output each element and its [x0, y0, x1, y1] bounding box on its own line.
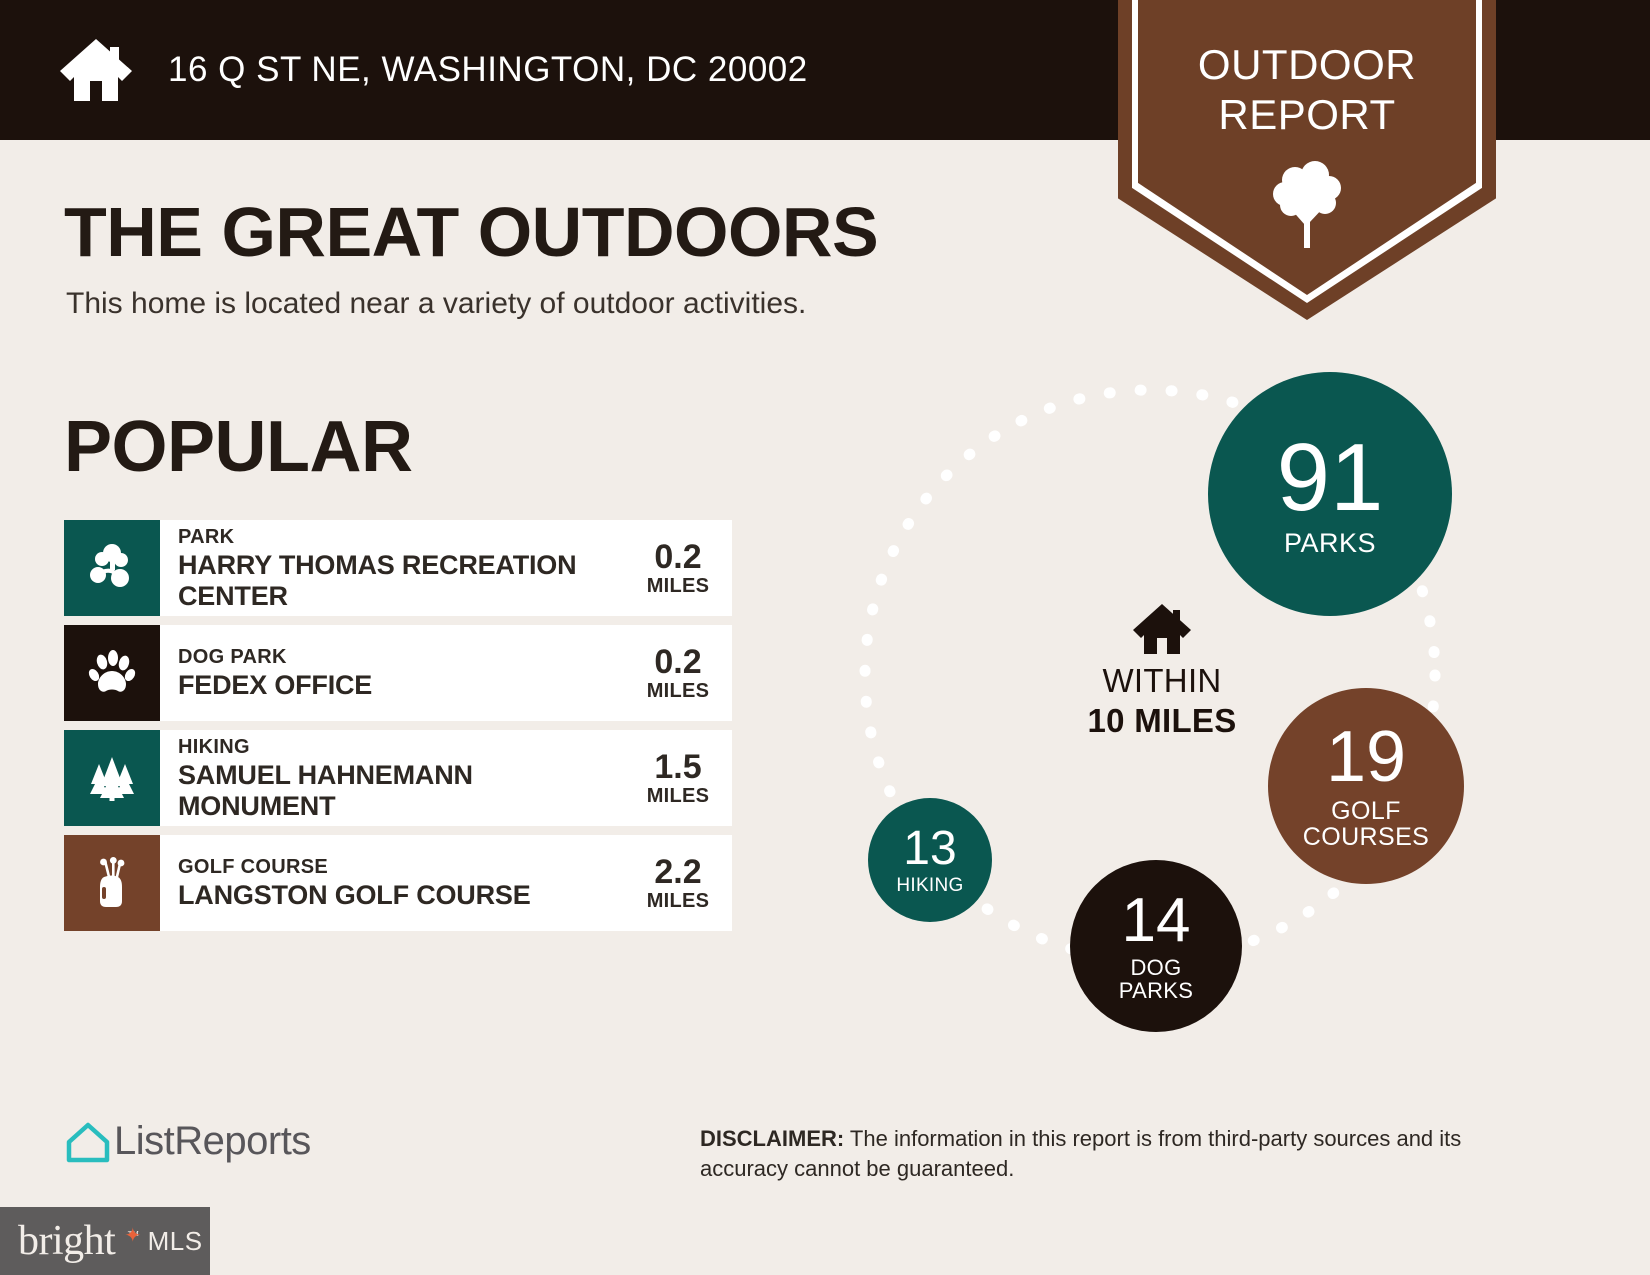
center-line-1: WITHIN [1032, 661, 1292, 701]
row-icon-tile [64, 625, 160, 721]
stat-label-parks: PARKS [1284, 530, 1376, 558]
listreports-logo: ListReports [64, 1118, 311, 1164]
row-name: HARRY THOMAS RECREATION CENTER [178, 550, 636, 612]
center-line-2: 10 MILES [1032, 701, 1292, 741]
badge-line1: OUTDOOR [1138, 40, 1476, 90]
row-text: GOLF COURSE LANGSTON GOLF COURSE [160, 835, 636, 931]
row-distance-value: 0.2 [654, 539, 701, 575]
stat-value-parks: 91 [1277, 430, 1384, 526]
row-distance-value: 1.5 [654, 749, 701, 785]
stat-label-line1: DOG [1119, 957, 1193, 980]
paw-icon [86, 647, 138, 699]
row-category: GOLF COURSE [178, 855, 636, 880]
row-category: PARK [178, 525, 636, 550]
house-icon [1131, 602, 1193, 656]
row-distance-unit: MILES [647, 890, 710, 913]
stat-bubble-hiking[interactable]: 13 HIKING [868, 798, 992, 922]
disclaimer: DISCLAIMER: The information in this repo… [700, 1124, 1520, 1184]
row-distance-value: 2.2 [654, 854, 701, 890]
list-item[interactable]: HIKING SAMUEL HAHNEMANN MONUMENT 1.5 MIL… [64, 730, 732, 826]
row-distance: 0.2 MILES [636, 520, 732, 616]
house-icon [58, 37, 134, 103]
row-distance: 0.2 MILES [636, 625, 732, 721]
bright-text: bright [18, 1218, 115, 1264]
row-icon-tile [64, 520, 160, 616]
row-distance-value: 0.2 [654, 644, 701, 680]
stat-label-golf-courses: GOLF COURSES [1303, 799, 1429, 851]
stat-label-dog-parks: DOG PARKS [1119, 957, 1193, 1002]
row-distance: 1.5 MILES [636, 730, 732, 826]
row-icon-tile [64, 835, 160, 931]
disclaimer-label: DISCLAIMER: [700, 1126, 844, 1151]
stat-bubble-parks[interactable]: 91 PARKS [1208, 372, 1452, 616]
row-name: FEDEX OFFICE [178, 670, 636, 701]
row-distance-unit: MILES [647, 575, 710, 598]
row-icon-tile [64, 730, 160, 826]
row-name: SAMUEL HAHNEMANN MONUMENT [178, 760, 636, 822]
row-name: LANGSTON GOLF COURSE [178, 880, 636, 911]
stat-value-hiking: 13 [903, 825, 956, 873]
stat-label-line2: COURSES [1303, 825, 1429, 851]
mls-text: MLS [148, 1226, 203, 1257]
bright-wordmark: bright ✦ ™ [18, 1217, 139, 1265]
row-distance-unit: MILES [647, 785, 710, 808]
popular-list: PARK HARRY THOMAS RECREATION CENTER 0.2 … [64, 520, 732, 940]
park-icon [86, 542, 138, 594]
stat-bubble-golf-courses[interactable]: 19 GOLF COURSES [1268, 688, 1464, 884]
golf-bag-icon [86, 857, 138, 909]
bright-mls-watermark: bright ✦ ™ MLS [0, 1207, 210, 1275]
section-heading-popular: POPULAR [64, 406, 413, 488]
page-title: THE GREAT OUTDOORS [64, 192, 878, 272]
row-distance: 2.2 MILES [636, 835, 732, 931]
stat-label-line2: PARKS [1119, 980, 1193, 1003]
row-text: PARK HARRY THOMAS RECREATION CENTER [160, 520, 636, 616]
row-distance-unit: MILES [647, 680, 710, 703]
row-category: HIKING [178, 735, 636, 760]
list-item[interactable]: GOLF COURSE LANGSTON GOLF COURSE 2.2 MIL… [64, 835, 732, 931]
stat-bubble-dog-parks[interactable]: 14 DOG PARKS [1070, 860, 1242, 1032]
list-item[interactable]: PARK HARRY THOMAS RECREATION CENTER 0.2 … [64, 520, 732, 616]
stat-label-line1: GOLF [1303, 799, 1429, 825]
stat-value-dog-parks: 14 [1122, 890, 1191, 952]
row-text: HIKING SAMUEL HAHNEMANN MONUMENT [160, 730, 636, 826]
within-10-miles-diagram: 91 PARKS 19 GOLF COURSES 14 DOG PARKS 13… [820, 330, 1500, 1070]
pine-trees-icon [86, 752, 138, 804]
listreports-wordmark: ListReports [114, 1119, 311, 1164]
bright-star-icon: ✦ [124, 1223, 140, 1248]
list-item[interactable]: DOG PARK FEDEX OFFICE 0.2 MILES [64, 625, 732, 721]
stat-label-hiking: HIKING [896, 876, 963, 896]
badge-line2: REPORT [1138, 90, 1476, 140]
house-outline-icon [64, 1118, 112, 1164]
stat-value-golf-courses: 19 [1326, 721, 1406, 793]
property-address: 16 Q ST NE, WASHINGTON, DC 20002 [168, 50, 808, 90]
row-category: DOG PARK [178, 645, 636, 670]
row-text: DOG PARK FEDEX OFFICE [160, 625, 636, 721]
diagram-center-label: WITHIN 10 MILES [1032, 602, 1292, 741]
page-subtitle: This home is located near a variety of o… [66, 287, 806, 321]
tree-icon [1265, 158, 1349, 250]
badge-label: OUTDOOR REPORT [1138, 40, 1476, 140]
